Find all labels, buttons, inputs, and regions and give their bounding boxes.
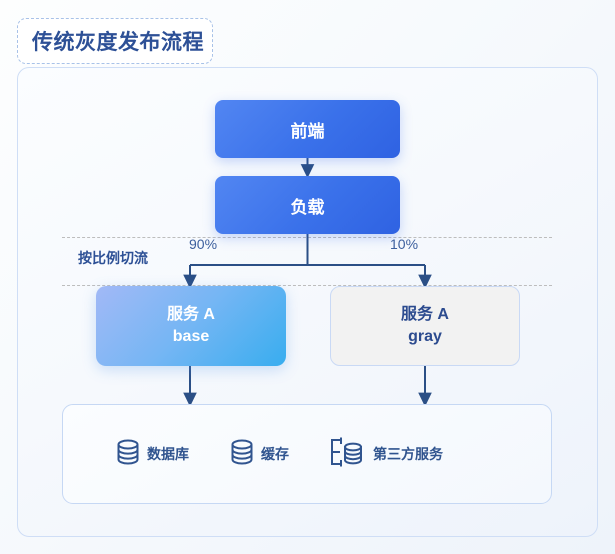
node-frontend[interactable]: 前端 (215, 100, 400, 158)
node-load-balancer[interactable]: 负载 (215, 176, 400, 234)
resource-item-database[interactable]: 数据库 (115, 438, 189, 471)
diagram-canvas: 传统灰度发布流程 前端 负载 按比例切流 90% 10% 服务 A base (0, 0, 615, 554)
resource-item-database-label: 数据库 (147, 444, 189, 464)
split-band-top-divider (62, 237, 552, 238)
resource-item-cache-label: 缓存 (261, 444, 289, 464)
split-band-label: 按比例切流 (78, 248, 148, 268)
node-service-a-base-title: 服务 A (167, 304, 215, 326)
third-party-service-icon (329, 437, 367, 472)
cache-icon (229, 438, 255, 471)
page-title: 传统灰度发布流程 (18, 26, 204, 56)
resources-panel: 数据库 缓存 (62, 404, 552, 504)
split-percent-right: 10% (390, 236, 418, 252)
node-service-a-gray-variant: gray (408, 326, 442, 348)
node-service-a-base-variant: base (173, 326, 209, 348)
resources-list: 数据库 缓存 (63, 437, 443, 472)
node-load-balancer-label: 负载 (291, 193, 325, 218)
resource-item-third-party-label: 第三方服务 (373, 444, 443, 464)
node-service-a-base[interactable]: 服务 A base (96, 286, 286, 366)
node-service-a-gray[interactable]: 服务 A gray (330, 286, 520, 366)
resource-item-cache[interactable]: 缓存 (229, 438, 289, 471)
resource-item-third-party[interactable]: 第三方服务 (329, 437, 443, 472)
database-icon (115, 438, 141, 471)
diagram-title-chip: 传统灰度发布流程 (17, 18, 213, 64)
node-service-a-gray-title: 服务 A (401, 304, 449, 326)
node-frontend-label: 前端 (291, 117, 325, 142)
split-percent-left: 90% (189, 236, 217, 252)
